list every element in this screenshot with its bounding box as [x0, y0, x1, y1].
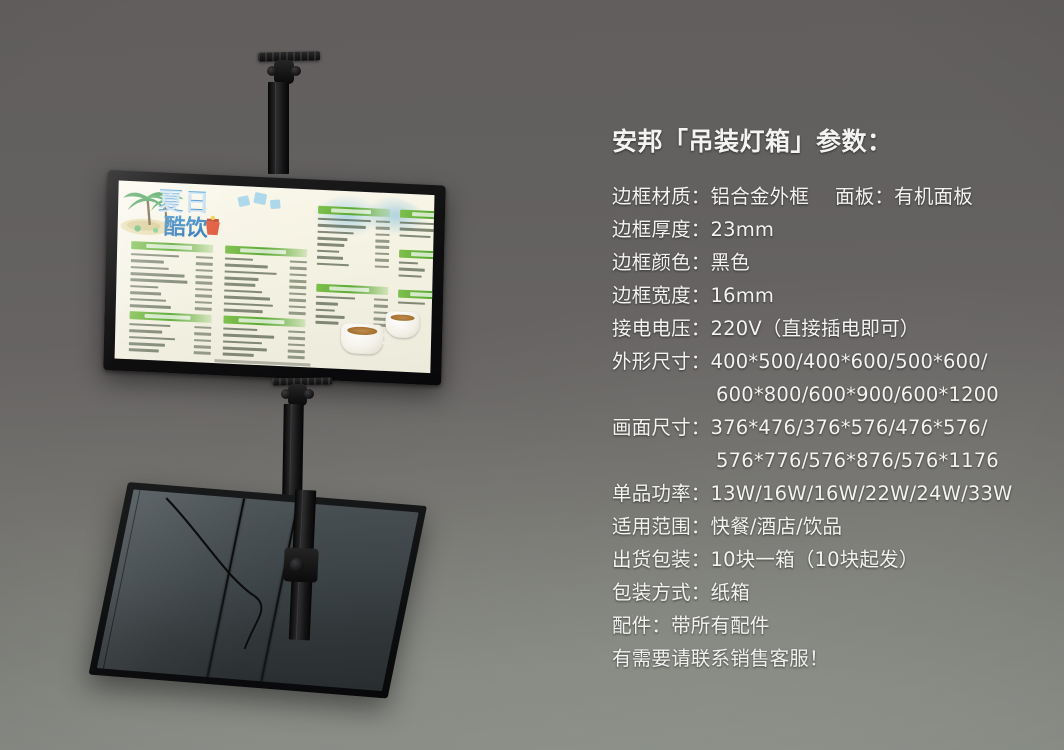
spec-label: 适用范围：: [612, 515, 711, 538]
menu-section-1: [130, 241, 214, 312]
spec-line: 适用范围：快餐/酒店/饮品: [612, 510, 1064, 543]
menu-row: [398, 300, 435, 310]
spec-value: 带所有配件: [671, 614, 770, 637]
coffee-cup-handle: [380, 333, 391, 346]
spec-value: 13W/16W/16W/22W/24W/33W: [711, 482, 1013, 505]
swivel-knob-lower-left: [281, 389, 291, 399]
spec-line: 单品功率：13W/16W/16W/22W/24W/33W: [612, 477, 1064, 510]
light-box-back-panel: [88, 482, 427, 699]
menu-rows: [129, 321, 212, 357]
menu-section-3: [129, 311, 212, 357]
spec-line: 边框厚度：23mm: [612, 213, 1064, 246]
swivel-knob-upper-left: [267, 66, 277, 76]
menu-section-9: [398, 290, 435, 310]
spec-line: 边框材质：铝合金外框面板：有机面板: [612, 180, 1064, 213]
pole-seam: [275, 82, 276, 174]
cup-doodle-illustration: [201, 214, 227, 237]
spec-value: 纸箱: [711, 581, 750, 604]
product-photo: 夏日 酷饮: [0, 0, 1064, 750]
spec-label: 边框宽度：: [612, 284, 711, 307]
page-title: 安邦「吊装灯箱」参数：: [612, 122, 1064, 158]
spec-line: 边框颜色：黑色: [612, 246, 1064, 279]
spec-value: 16mm: [711, 284, 775, 307]
menu-rows: [317, 216, 390, 270]
menu-section-7: [399, 250, 435, 282]
contact-note: 有需要请联系销售客服！: [612, 642, 1064, 675]
spec-label: 接电电压：: [612, 317, 711, 340]
menu-board-screen: 夏日 酷饮: [115, 181, 435, 374]
spec-line: 包装方式：纸箱: [612, 576, 1064, 609]
spec-value: 376*476/376*576/476*576/: [711, 416, 988, 439]
spec-line: 画面尺寸：376*476/376*576/476*576/: [612, 411, 1064, 444]
spec-label: 边框颜色：: [612, 251, 711, 274]
spec-line-continuation: 576*776/576*876/576*1176: [612, 444, 1064, 477]
coffee-cup-back: [385, 311, 420, 339]
spec-label: 单品功率：: [612, 482, 711, 505]
mount-pole-lower: [282, 404, 304, 496]
spec-line: 接电电压：220V（直接插电即可）: [612, 312, 1064, 345]
spec-value: 快餐/酒店/饮品: [711, 515, 843, 538]
spec-extra-label: 面板：: [835, 185, 894, 208]
light-box-front: 夏日 酷饮: [103, 170, 445, 386]
spec-line: 出货包装：10块一箱（10块起发）: [612, 543, 1064, 576]
swivel-knob-lower-right: [304, 389, 314, 399]
pole-clamp-knob: [290, 558, 304, 572]
spec-value: 400*500/400*600/500*600/: [711, 350, 988, 373]
spec-label: 出货包装：: [612, 548, 711, 571]
coffee-cup-front: [341, 323, 384, 355]
back-panel-surface: [97, 489, 419, 691]
spec-value: 600*800/600*900/600*1200: [716, 383, 999, 406]
spec-extra-value: 有机面板: [894, 185, 973, 208]
pole-seam: [289, 404, 292, 496]
spec-line: 配件：带所有配件: [612, 609, 1064, 642]
ice-cubes-illustration: [236, 190, 289, 218]
spec-label: 包装方式：: [612, 581, 711, 604]
spec-value: 220V（直接插电即可）: [711, 317, 920, 340]
menu-section-5: [317, 206, 390, 270]
spec-line-continuation: 600*800/600*900/600*1200: [612, 378, 1064, 411]
spec-value: 黑色: [711, 251, 750, 274]
spec-value: 23mm: [711, 218, 775, 241]
menu-rows: [130, 251, 213, 312]
spec-list: 边框材质：铝合金外框面板：有机面板 边框厚度：23mm 边框颜色：黑色 边框宽度…: [612, 180, 1064, 675]
swivel-knob-upper-right: [291, 66, 301, 76]
spec-label: 边框材质：: [612, 185, 711, 208]
spec-value: 576*776/576*876/576*1176: [716, 449, 999, 472]
spec-line: 外形尺寸：400*500/400*600/500*600/: [612, 345, 1064, 378]
spec-line: 边框宽度：16mm: [612, 279, 1064, 312]
menu-row: [399, 272, 435, 282]
contact-note-text: 有需要请联系销售客服！: [612, 647, 829, 670]
spec-label: 外形尺寸：: [612, 350, 711, 373]
menu-section-6: [399, 210, 434, 242]
menu-rows: [399, 220, 434, 242]
spec-value: 10块一箱（10块起发）: [711, 548, 919, 571]
spec-label: 画面尺寸：: [612, 416, 711, 439]
spec-label: 配件：: [612, 614, 671, 637]
specification-panel: 安邦「吊装灯箱」参数： 边框材质：铝合金外框面板：有机面板 边框厚度：23mm …: [612, 122, 1064, 675]
back-panel-sheen: [97, 489, 419, 691]
spec-label: 边框厚度：: [612, 218, 711, 241]
menu-rows: [399, 260, 435, 282]
menu-rows: [398, 300, 435, 310]
spec-value: 铝合金外框: [711, 185, 810, 208]
mount-pole-upper: [268, 82, 289, 174]
